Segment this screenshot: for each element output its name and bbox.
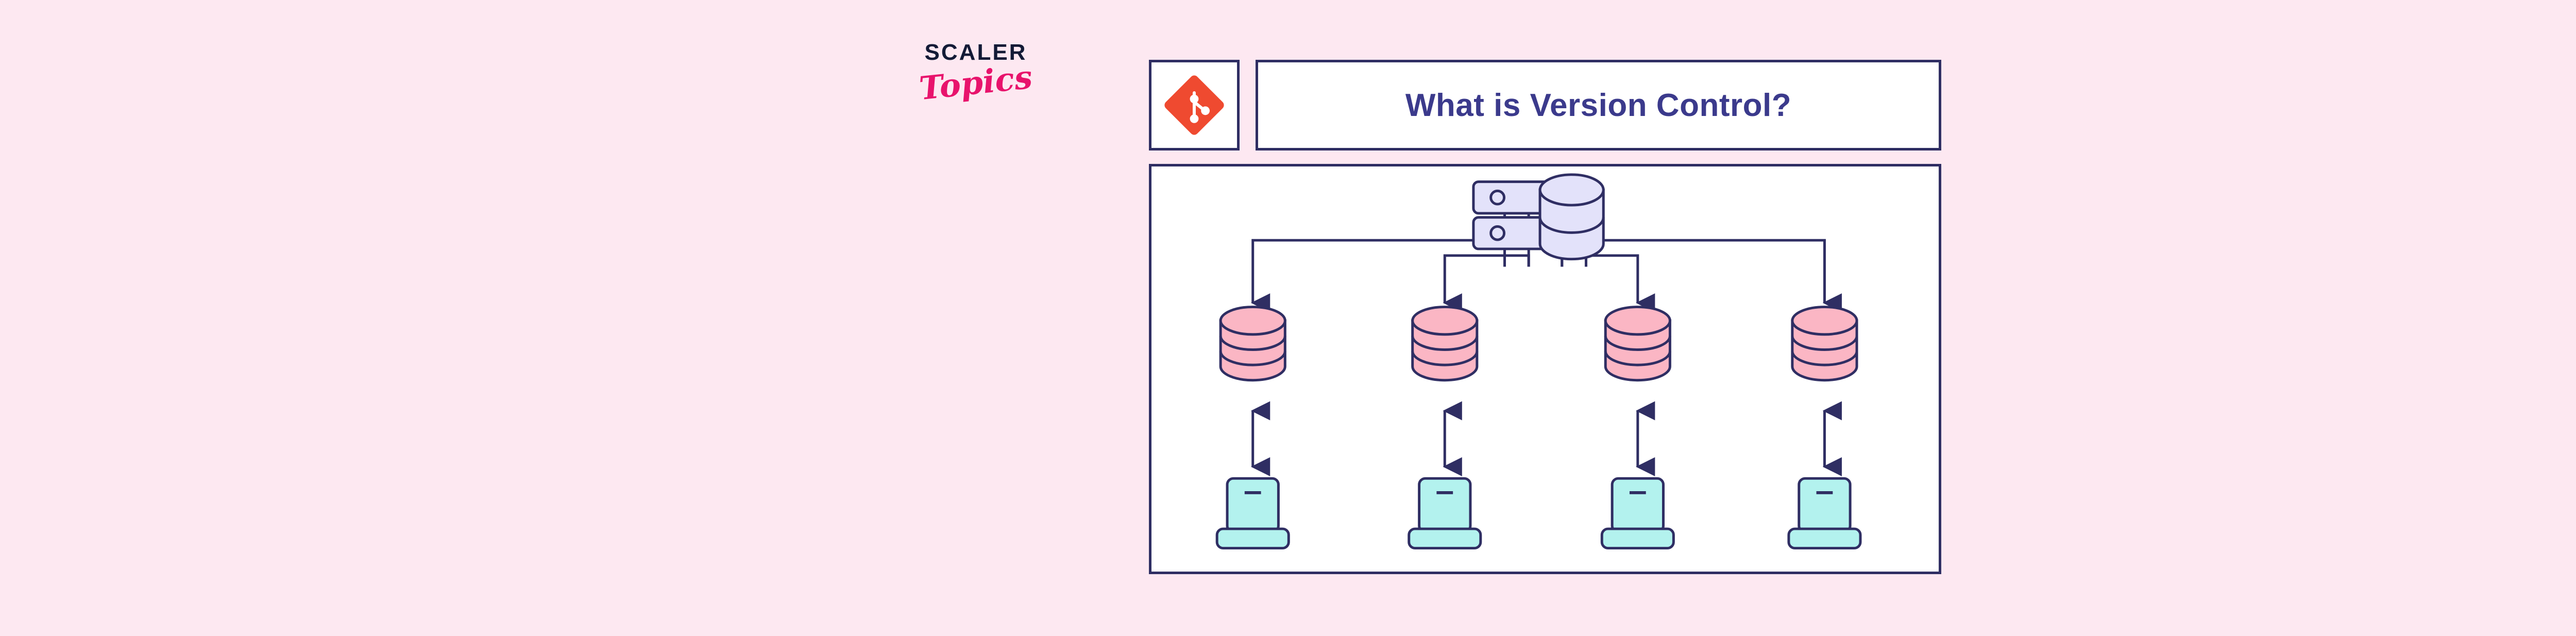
developer-workstation-4 — [1789, 478, 1860, 548]
title-box: What is Version Control? — [1256, 60, 1941, 150]
central-server — [1473, 175, 1603, 259]
git-logo-icon — [1163, 74, 1225, 136]
header-row: What is Version Control? — [1149, 60, 1941, 150]
local-repository-3 — [1605, 307, 1670, 380]
diagram-panel — [1149, 164, 1941, 574]
server-rack-led-1 — [1491, 191, 1504, 204]
repo-to-client-connectors — [1253, 411, 1825, 467]
brand-script: Topics — [897, 59, 1055, 107]
connector-server-to-repo-3 — [1562, 256, 1638, 303]
local-repository-4 — [1792, 307, 1857, 380]
git-logo-box — [1149, 60, 1240, 150]
page-title: What is Version Control? — [1405, 87, 1791, 124]
connector-server-to-repo-4 — [1586, 240, 1824, 303]
developer-workstation-3 — [1602, 478, 1673, 548]
client-nodes — [1217, 478, 1860, 548]
server-rack-led-2 — [1491, 227, 1504, 240]
repository-nodes — [1221, 307, 1857, 380]
version-control-diagram — [1151, 166, 1939, 572]
connector-server-to-repo-2 — [1445, 256, 1529, 303]
connector-server-to-repo-1 — [1253, 240, 1505, 303]
developer-workstation-1 — [1217, 478, 1289, 548]
local-repository-2 — [1413, 307, 1477, 380]
local-repository-1 — [1221, 307, 1285, 380]
developer-workstation-2 — [1409, 478, 1481, 548]
scaler-topics-logo: SCALER Topics — [899, 41, 1053, 134]
server-database-cylinder — [1540, 175, 1603, 259]
